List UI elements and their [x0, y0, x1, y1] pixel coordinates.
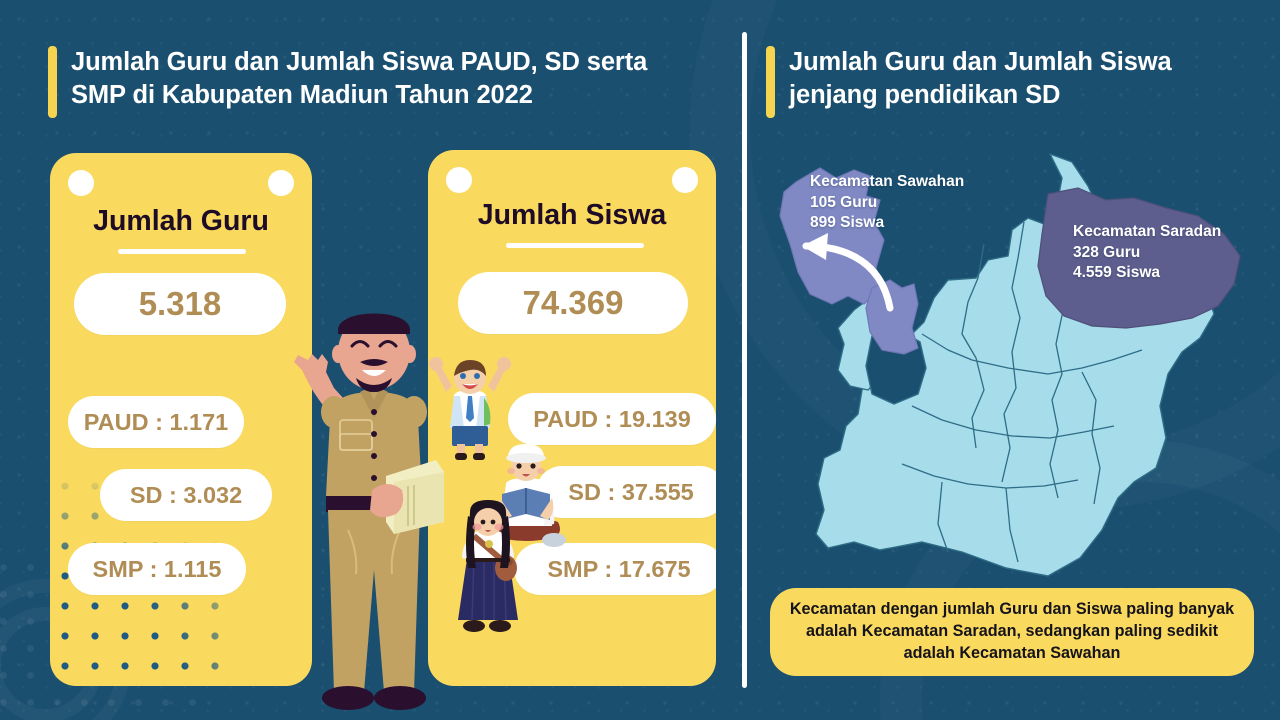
title-accent-bar-left — [48, 46, 57, 118]
card-hole-right-siswa — [672, 167, 698, 193]
card-heading-guru: Jumlah Guru — [50, 205, 312, 238]
card-heading-siswa: Jumlah Siswa — [428, 199, 716, 232]
guru-paud-pill: PAUD : 1.171 — [68, 396, 244, 448]
guru-smp-pill: SMP : 1.115 — [68, 543, 246, 595]
card-heading-rule-guru — [118, 249, 246, 254]
map-label-sawahan: Kecamatan Sawahan 105 Guru 899 Siswa — [810, 172, 964, 234]
saradan-siswa: 4.559 Siswa — [1073, 263, 1221, 284]
card-hole-left-siswa — [446, 167, 472, 193]
card-hole-left-guru — [68, 170, 94, 196]
saradan-guru: 328 Guru — [1073, 243, 1221, 264]
left-panel-title: Jumlah Guru dan Jumlah Siswa PAUD, SD se… — [48, 46, 708, 118]
saradan-name: Kecamatan Saradan — [1073, 222, 1221, 243]
card-hole-right-guru — [268, 170, 294, 196]
sawahan-name: Kecamatan Sawahan — [810, 172, 964, 193]
left-title-text: Jumlah Guru dan Jumlah Siswa PAUD, SD se… — [71, 46, 708, 112]
schoolgirl-illustration — [444, 500, 532, 635]
summary-note-box: Kecamatan dengan jumlah Guru dan Siswa p… — [770, 588, 1254, 676]
vertical-divider — [742, 32, 747, 688]
summary-note-text: Kecamatan dengan jumlah Guru dan Siswa p… — [770, 599, 1254, 664]
guru-total-pill: 5.318 — [74, 273, 286, 335]
sawahan-siswa: 899 Siswa — [810, 213, 964, 234]
title-accent-bar-right — [766, 46, 775, 118]
map-label-saradan: Kecamatan Saradan 328 Guru 4.559 Siswa — [1073, 222, 1221, 284]
sawahan-guru: 105 Guru — [810, 193, 964, 214]
right-panel-title: Jumlah Guru dan Jumlah Siswa jenjang pen… — [766, 46, 1236, 118]
right-title-text: Jumlah Guru dan Jumlah Siswa jenjang pen… — [789, 46, 1236, 112]
siswa-total-pill: 74.369 — [458, 272, 688, 334]
card-heading-rule-siswa — [506, 243, 644, 248]
guru-sd-pill: SD : 3.032 — [100, 469, 272, 521]
